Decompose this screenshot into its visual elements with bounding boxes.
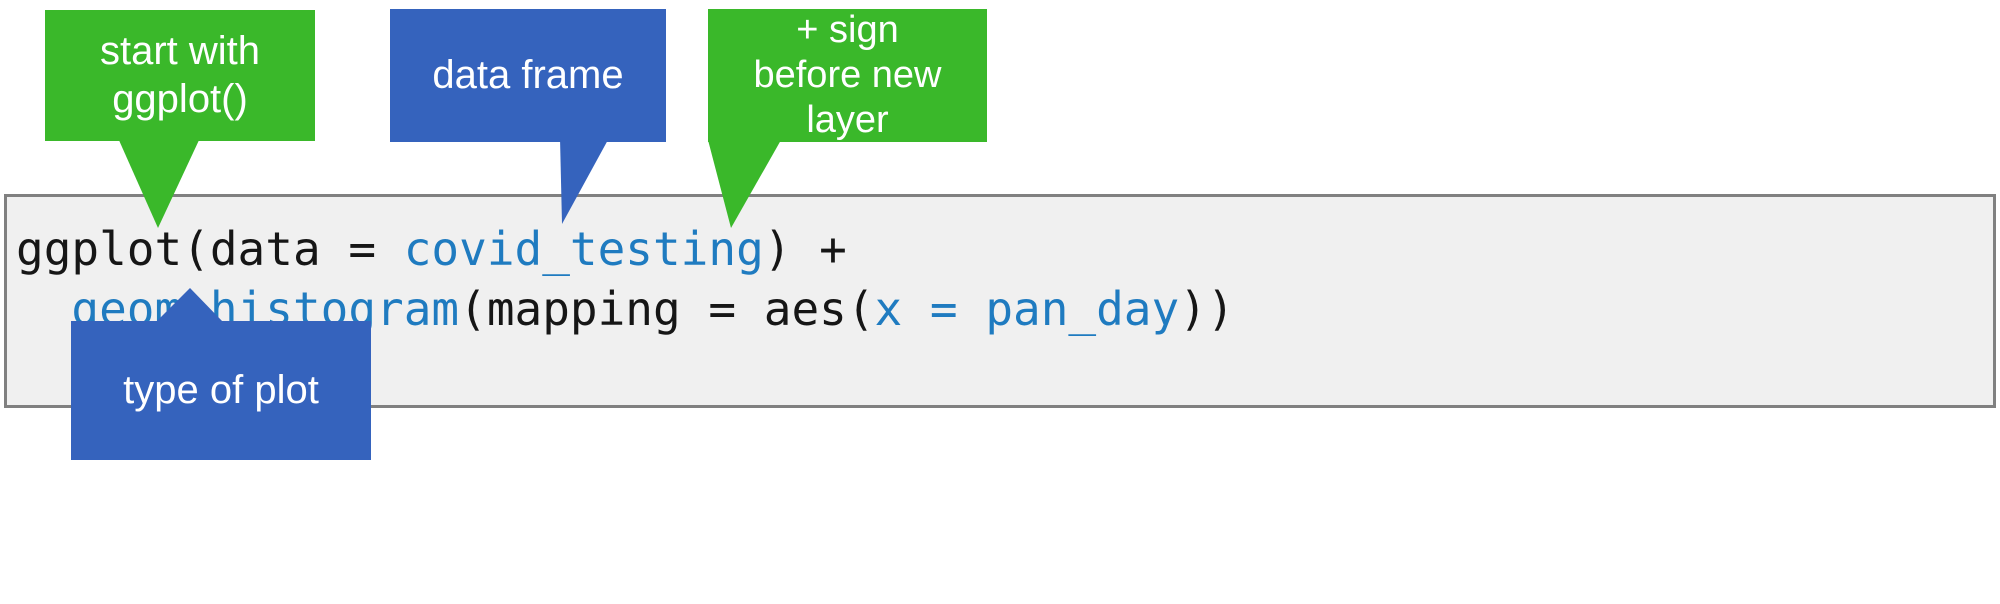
code-token-0-2: ) +: [764, 222, 847, 276]
callout-start-with-ggplot-label: start with ggplot(): [45, 28, 315, 122]
callout-type-of-plot-label: type of plot: [71, 367, 371, 414]
code-token-1-2: x = pan_day: [875, 282, 1180, 336]
code-token-1-1: (mapping = aes(: [459, 282, 874, 336]
diagram-canvas: ggplot(data = covid_testing) + geom_hist…: [0, 0, 2000, 604]
callout-data-frame-label: data frame: [390, 52, 666, 99]
code-token-0-1: covid_testing: [404, 222, 764, 276]
code-token-0-0: ggplot(data =: [16, 222, 404, 276]
callout-type-of-plot[interactable]: type of plot: [71, 321, 371, 460]
callout-plus-sign-label: + sign before new layer: [708, 8, 987, 142]
callout-plus-sign[interactable]: + sign before new layer: [708, 9, 987, 142]
callout-data-frame[interactable]: data frame: [390, 9, 666, 142]
code-token-1-3: )): [1179, 282, 1234, 336]
callout-start-with-ggplot[interactable]: start with ggplot(): [45, 10, 315, 141]
